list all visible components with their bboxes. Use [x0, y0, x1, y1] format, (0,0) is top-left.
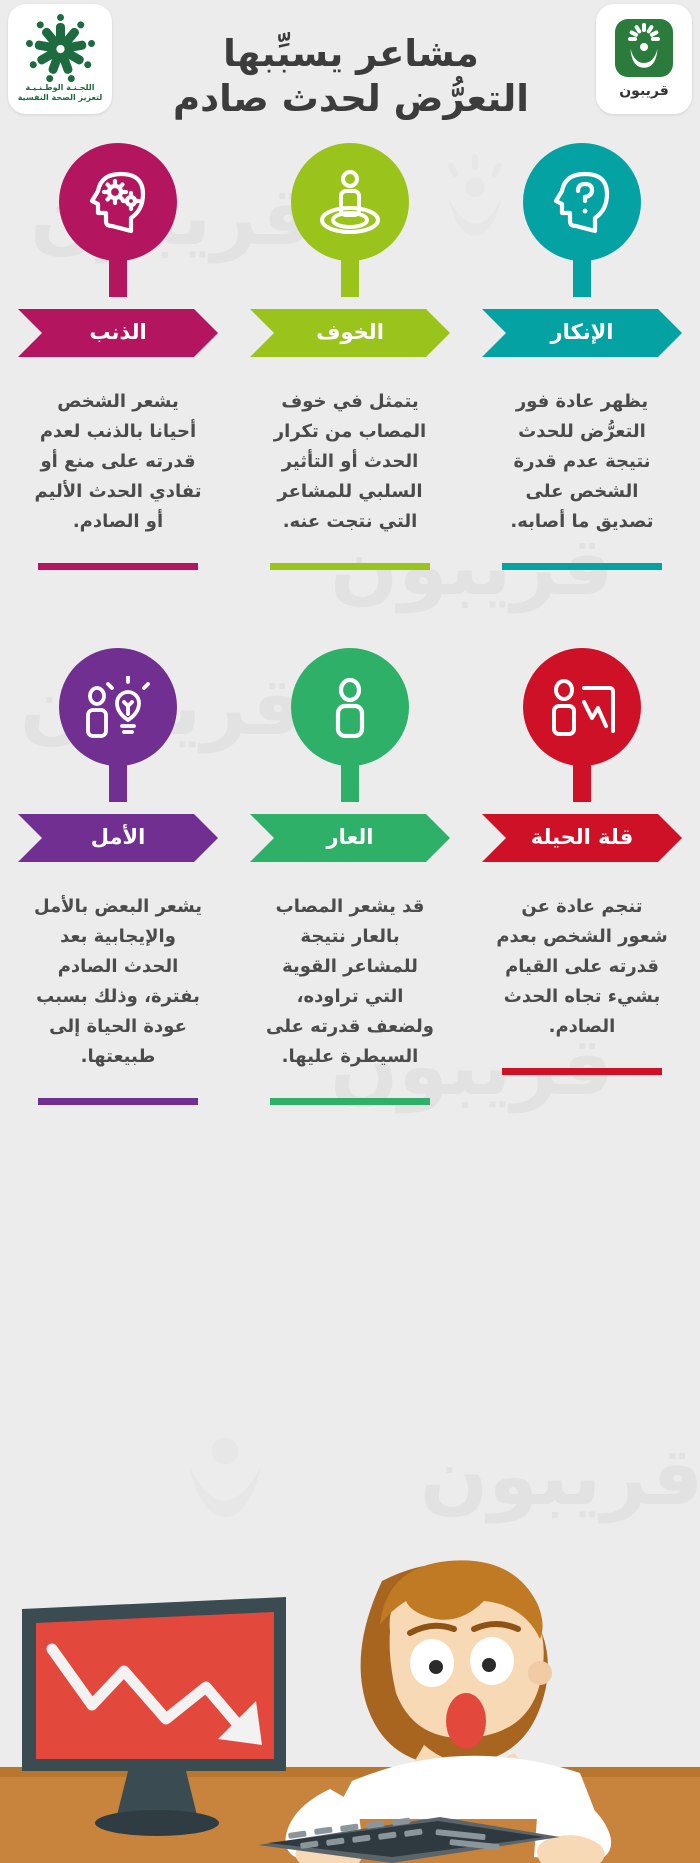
person-icon	[323, 676, 377, 738]
head-question-icon	[551, 168, 613, 236]
card-hope: الأمل يشعر البعض بالأمل والإيجابية بعد ا…	[18, 648, 218, 1105]
rule-guilt	[38, 563, 198, 570]
banner-label-hope: الأمل	[91, 827, 146, 850]
guilt-icon-circle	[59, 143, 177, 261]
card-denial: الإنكار يظهر عادة فور التعرُّض للحدث نتي…	[482, 143, 682, 570]
banner-fear: الخوف	[250, 309, 450, 357]
card-helplessness: قلة الحيلة تنجم عادة عن شعور الشخص بعدم …	[482, 648, 682, 1075]
helplessness-icon-wrap	[482, 648, 682, 776]
open-mouth	[446, 1693, 486, 1749]
banner-denial: الإنكار	[482, 309, 682, 357]
shame-stem	[341, 760, 359, 802]
card-row-2: قلة الحيلة تنجم عادة عن شعور الشخص بعدم …	[0, 648, 700, 1128]
person-figure	[285, 1560, 611, 1863]
fear-icon-wrap	[250, 143, 450, 271]
banner-label-shame: العار	[327, 827, 374, 850]
banner-label-denial: الإنكار	[551, 322, 614, 345]
shame-icon-circle	[291, 648, 409, 766]
hope-icon-circle	[59, 648, 177, 766]
hope-icon-wrap	[18, 648, 218, 776]
banner-label-helplessness: قلة الحيلة	[531, 827, 633, 850]
qareeboon-person-icon	[628, 42, 660, 68]
banner-shame: العار	[250, 814, 450, 862]
banner-guilt: الذنب	[18, 309, 218, 357]
logo-left-line2: لتعزيز الصحة النفسية	[18, 93, 103, 103]
description-helplessness: تنجم عادة عن شعور الشخص بعدم قدرته على ا…	[482, 892, 682, 1042]
banner-helplessness: قلة الحيلة	[482, 814, 682, 862]
banner-hope: الأمل	[18, 814, 218, 862]
rule-hope	[38, 1098, 198, 1105]
guilt-icon-wrap	[18, 143, 218, 271]
person-chart-icon	[547, 676, 617, 738]
card-row-1: الإنكار يظهر عادة فور التعرُّض للحدث نتي…	[0, 143, 700, 623]
qareeboon-tile-icon	[615, 19, 673, 77]
card-fear: الخوف يتمثل في خوف المصاب من تكرار الحدث…	[250, 143, 450, 570]
national-committee-logo: اللجـنـة الوطـنـيـة لتعزيز الصحة النفسية	[8, 4, 112, 114]
page-title: مشاعر يسبِّبها التعرُّض لحدث صادم	[120, 31, 582, 121]
person-bulb-icon	[83, 676, 153, 738]
helplessness-icon-circle	[523, 648, 641, 766]
fear-stem	[341, 255, 359, 297]
rule-fear	[270, 563, 430, 570]
infographic-page: قريبون قريبون قريبون قريبون قريبون	[0, 0, 700, 1863]
description-fear: يتمثل في خوف المصاب من تكرار الحدث أو ال…	[250, 387, 450, 537]
denial-icon-wrap	[482, 143, 682, 271]
description-denial: يظهر عادة فور التعرُّض للحدث نتيجة عدم ق…	[482, 387, 682, 537]
qareeboon-logo: قريبون	[596, 4, 692, 114]
watermark-text: قريبون	[420, 1430, 700, 1523]
helplessness-stem	[573, 760, 591, 802]
banner-label-guilt: الذنب	[89, 322, 146, 345]
page-title-line2: التعرُّض لحدث صادم	[173, 77, 529, 120]
description-hope: يشعر البعض بالأمل والإيجابية بعد الحدث ا…	[18, 892, 218, 1072]
head-gears-icon	[87, 168, 149, 236]
denial-stem	[573, 255, 591, 297]
header: اللجـنـة الوطـنـيـة لتعزيز الصحة النفسية…	[0, 0, 700, 130]
card-guilt: الذنب يشعر الشخص أحيانا بالذنب لعدم قدرت…	[18, 143, 218, 570]
national-committee-mark-icon	[29, 18, 91, 80]
shame-icon-wrap	[250, 648, 450, 776]
card-shame: العار قد يشعر المصاب بالعار نتيجة للمشاع…	[250, 648, 450, 1105]
description-shame: قد يشعر المصاب بالعار نتيجة للمشاعر القو…	[250, 892, 450, 1072]
rule-denial	[502, 563, 662, 570]
banner-label-fear: الخوف	[316, 322, 384, 345]
qareeboon-logo-label: قريبون	[619, 83, 669, 99]
rule-shame	[270, 1098, 430, 1105]
illustration-shocked-person	[0, 1545, 700, 1863]
watermark-icon	[150, 1400, 300, 1550]
logo-left-line1: اللجـنـة الوطـنـيـة	[18, 83, 103, 93]
fear-icon-circle	[291, 143, 409, 261]
rule-helplessness	[502, 1068, 662, 1075]
description-guilt: يشعر الشخص أحيانا بالذنب لعدم قدرته على …	[18, 387, 218, 537]
hope-stem	[109, 760, 127, 802]
guilt-stem	[109, 255, 127, 297]
page-title-line1: مشاعر يسبِّبها	[223, 32, 479, 75]
denial-icon-circle	[523, 143, 641, 261]
person-target-icon	[319, 168, 381, 236]
